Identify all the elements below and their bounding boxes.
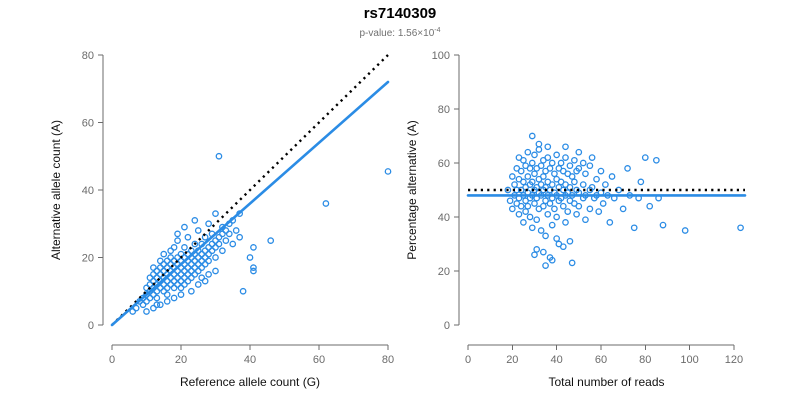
y-axis-tick-label: 20 — [438, 266, 450, 278]
x-axis-tick-label: 20 — [175, 354, 187, 366]
x-axis-label: Reference allele count (G) — [180, 375, 320, 389]
x-axis-tick-label: 60 — [313, 354, 325, 366]
y-axis-label: Percentage alternative (A) — [405, 120, 419, 259]
x-axis-tick-label: 20 — [506, 354, 518, 366]
p-value-subtitle-exponent: -4 — [434, 27, 440, 34]
x-axis-tick-label: 100 — [680, 354, 698, 366]
x-axis-tick-label: 80 — [639, 354, 651, 366]
x-axis-tick-label: 0 — [109, 354, 115, 366]
y-axis-tick-label: 20 — [82, 253, 94, 265]
y-axis-tick-label: 80 — [438, 104, 450, 116]
x-axis-tick-label: 80 — [382, 354, 394, 366]
p-value-subtitle-base: p-value: 1.56×10 — [359, 28, 434, 39]
page-title: rs7140309 — [364, 5, 437, 22]
y-axis-tick-label: 0 — [88, 320, 94, 332]
y-axis-tick-label: 0 — [444, 320, 450, 332]
x-axis-tick-label: 60 — [595, 354, 607, 366]
y-axis-tick-label: 80 — [82, 50, 94, 62]
x-axis-tick-label: 0 — [465, 354, 471, 366]
y-axis-tick-label: 60 — [438, 158, 450, 170]
y-axis-tick-label: 100 — [432, 50, 450, 62]
x-axis-tick-label: 40 — [551, 354, 563, 366]
y-axis-tick-label: 60 — [82, 118, 94, 130]
x-axis-tick-label: 40 — [244, 354, 256, 366]
y-axis-tick-label: 40 — [438, 212, 450, 224]
x-axis-label: Total number of reads — [548, 375, 664, 389]
p-value-subtitle: p-value: 1.56×10-4 — [359, 27, 440, 39]
y-axis-tick-label: 40 — [82, 185, 94, 197]
figure-canvas: rs7140309 p-value: 1.56×10-4 02040608002… — [0, 0, 800, 400]
x-axis-tick-label: 120 — [725, 354, 743, 366]
figure-background — [0, 0, 800, 400]
y-axis-label: Alternative allele count (A) — [49, 120, 63, 260]
